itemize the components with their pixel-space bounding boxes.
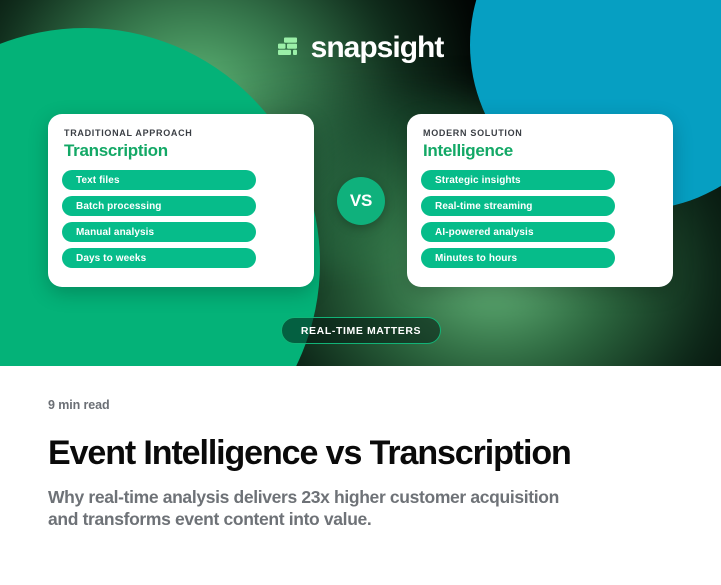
list-item: Minutes to hours bbox=[421, 248, 615, 268]
list-item: Text files bbox=[62, 170, 256, 190]
card-kicker-modern: MODERN SOLUTION bbox=[423, 128, 657, 138]
feature-list-modern: Strategic insights Real-time streaming A… bbox=[421, 170, 657, 268]
list-item: Batch processing bbox=[62, 196, 256, 216]
brand-name: snapsight bbox=[311, 33, 444, 63]
list-item: Strategic insights bbox=[421, 170, 615, 190]
snapsight-step-mark-icon bbox=[278, 37, 300, 59]
vs-badge: VS bbox=[337, 177, 385, 225]
card-kicker-traditional: TRADITIONAL APPROACH bbox=[64, 128, 298, 138]
comparison-card-modern: MODERN SOLUTION Intelligence Strategic i… bbox=[407, 114, 673, 287]
article-hero-page: snapsight TRADITIONAL APPROACH Transcrip… bbox=[0, 0, 721, 585]
feature-list-traditional: Text files Batch processing Manual analy… bbox=[62, 170, 298, 268]
card-title-traditional: Transcription bbox=[64, 141, 298, 161]
page-title: Event Intelligence vs Transcription bbox=[48, 435, 668, 472]
card-title-modern: Intelligence bbox=[423, 141, 657, 161]
list-item: AI-powered analysis bbox=[421, 222, 615, 242]
list-item: Real-time streaming bbox=[421, 196, 615, 216]
list-item: Manual analysis bbox=[62, 222, 256, 242]
brand-logo[interactable]: snapsight bbox=[0, 33, 721, 63]
read-time-label: 9 min read bbox=[48, 398, 668, 412]
hero-banner: snapsight TRADITIONAL APPROACH Transcrip… bbox=[0, 0, 721, 366]
list-item: Days to weeks bbox=[62, 248, 256, 268]
article-subhead: Why real-time analysis delivers 23x high… bbox=[48, 486, 588, 531]
real-time-matters-badge: REAL-TIME MATTERS bbox=[281, 317, 441, 344]
comparison-card-traditional: TRADITIONAL APPROACH Transcription Text … bbox=[48, 114, 314, 287]
article-content: 9 min read Event Intelligence vs Transcr… bbox=[48, 398, 668, 531]
